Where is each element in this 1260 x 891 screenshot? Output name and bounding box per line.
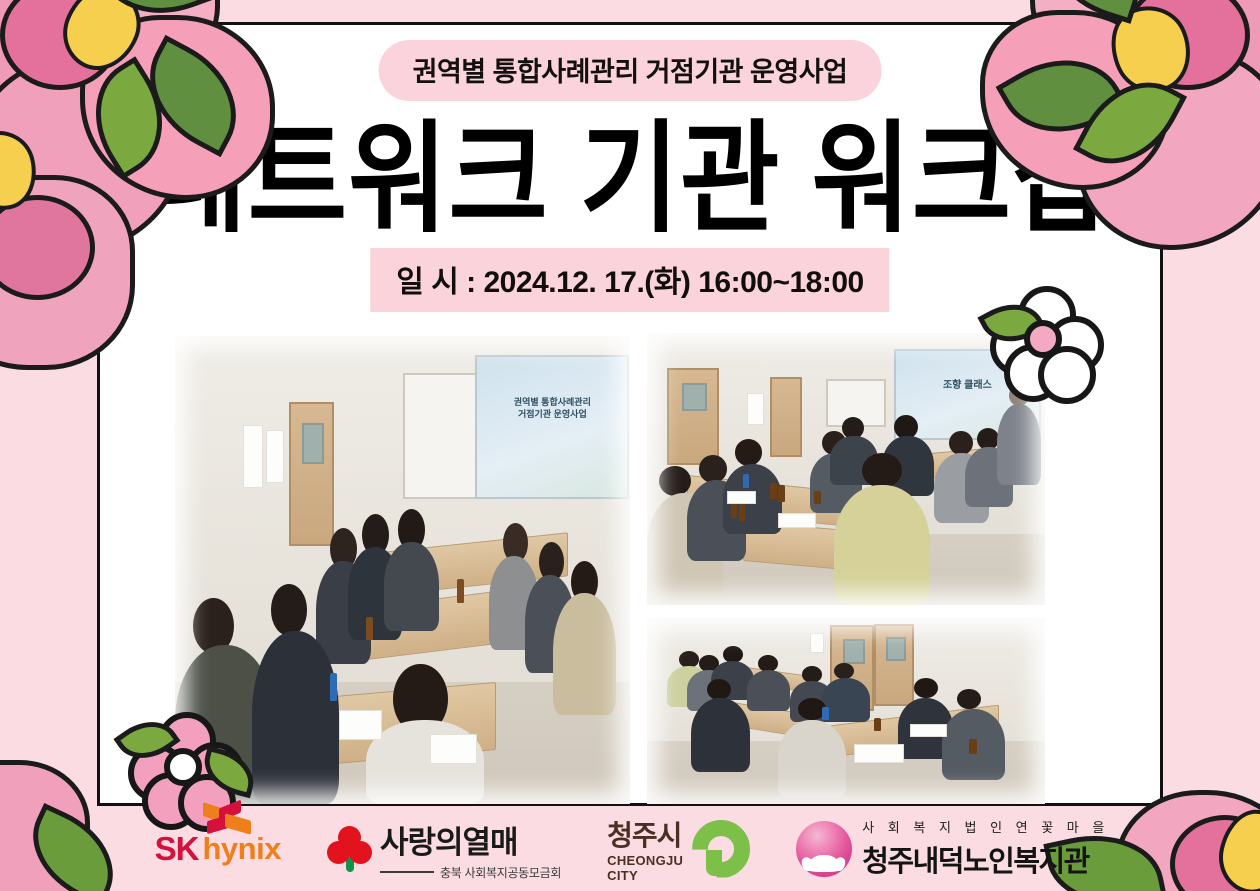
community-chest-primary-text: 사랑의열매: [380, 817, 561, 862]
event-poster: 권역별 통합사례관리 거점기관 운영사업 네트워크 기관 워크샵 일 시 : 2…: [0, 0, 1260, 891]
photo-meeting-room-wide: 권역별 통합사례관리 거점기관 운영사업: [175, 336, 630, 804]
cheongju-primary-text: 청주시: [607, 814, 683, 854]
naedeok-corporate-text: 사 회 복 지 법 인 연 꽃 마 을: [862, 817, 1109, 836]
sk-hynix-primary-text: SK: [155, 830, 199, 868]
projector-text-line2: 거점기관 운영사업: [477, 408, 627, 420]
sponsor-logo-bar: SK hynix 사랑의열매 충북 사회복지공동모금회 청주시: [0, 806, 1260, 891]
poster-subtitle-badge: 권역별 통합사례관리 거점기관 운영사업: [379, 40, 882, 101]
red-berries-icon: [327, 826, 373, 872]
photo-collage: 권역별 통합사례관리 거점기관 운영사업: [175, 333, 1045, 808]
cheongju-leaf-icon: [692, 820, 750, 878]
sk-hynix-secondary-text: hynix: [203, 831, 281, 867]
cheongju-english-line1: CHEONGJU: [607, 854, 683, 868]
lotus-icon: [796, 821, 852, 877]
poster-title: 네트워크 기관 워크샵: [0, 115, 1260, 242]
projector-text-line1: 권역별 통합사례관리: [477, 396, 627, 408]
logo-community-chest: 사랑의열매 충북 사회복지공동모금회: [327, 817, 561, 881]
event-datetime-bar: 일 시 : 2024.12. 17.(화) 16:00~18:00: [370, 248, 889, 312]
logo-sk-hynix: SK hynix: [151, 830, 281, 868]
divider-rule: [380, 871, 434, 873]
community-chest-secondary-text: 충북 사회복지공동모금회: [440, 864, 561, 881]
naedeok-primary-text: 청주내덕노인복지관: [862, 838, 1109, 880]
photo-perfume-class: 조향 클래스: [647, 333, 1045, 605]
community-chest-secondary-line: 충북 사회복지공동모금회: [380, 864, 561, 881]
logo-cheongju-city: 청주시 CHEONGJU CITY: [607, 814, 750, 882]
event-datetime-text: 일 시 : 2024.12. 17.(화) 16:00~18:00: [396, 266, 863, 299]
photo-group-discussion: [647, 618, 1045, 804]
sk-ribbon-icon: [203, 804, 255, 834]
logo-naedeok-senior-center: 사 회 복 지 법 인 연 꽃 마 을 청주내덕노인복지관: [796, 817, 1109, 880]
cheongju-english-line2: CITY: [607, 869, 683, 883]
